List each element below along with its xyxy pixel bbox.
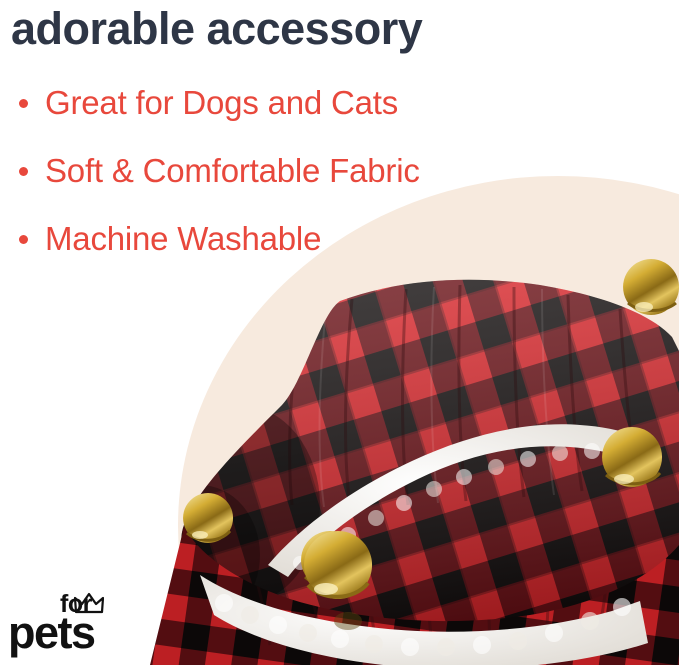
page-title: adorable accessory	[11, 2, 651, 56]
marketing-image-canvas: adorable accessory Great for Dogs and Ca…	[0, 0, 679, 665]
list-item: Soft & Comfortable Fabric	[14, 148, 574, 194]
list-item: Machine Washable	[14, 216, 574, 262]
list-item: Great for Dogs and Cats	[14, 80, 574, 126]
bullet-dot-icon	[19, 99, 28, 108]
jingle-bell	[183, 493, 233, 543]
bullet-dot-icon	[19, 235, 28, 244]
jingle-bell	[623, 259, 679, 315]
bullet-dot-icon	[19, 167, 28, 176]
feature-label: Machine Washable	[45, 219, 321, 259]
feature-label: Great for Dogs and Cats	[45, 83, 398, 123]
jingle-bell	[602, 427, 662, 487]
feature-label: Soft & Comfortable Fabric	[45, 151, 420, 191]
brand-logo: for pets	[8, 592, 138, 654]
logo-line-pets: pets	[8, 610, 95, 655]
feature-list: Great for Dogs and Cats Soft & Comfortab…	[14, 80, 574, 284]
